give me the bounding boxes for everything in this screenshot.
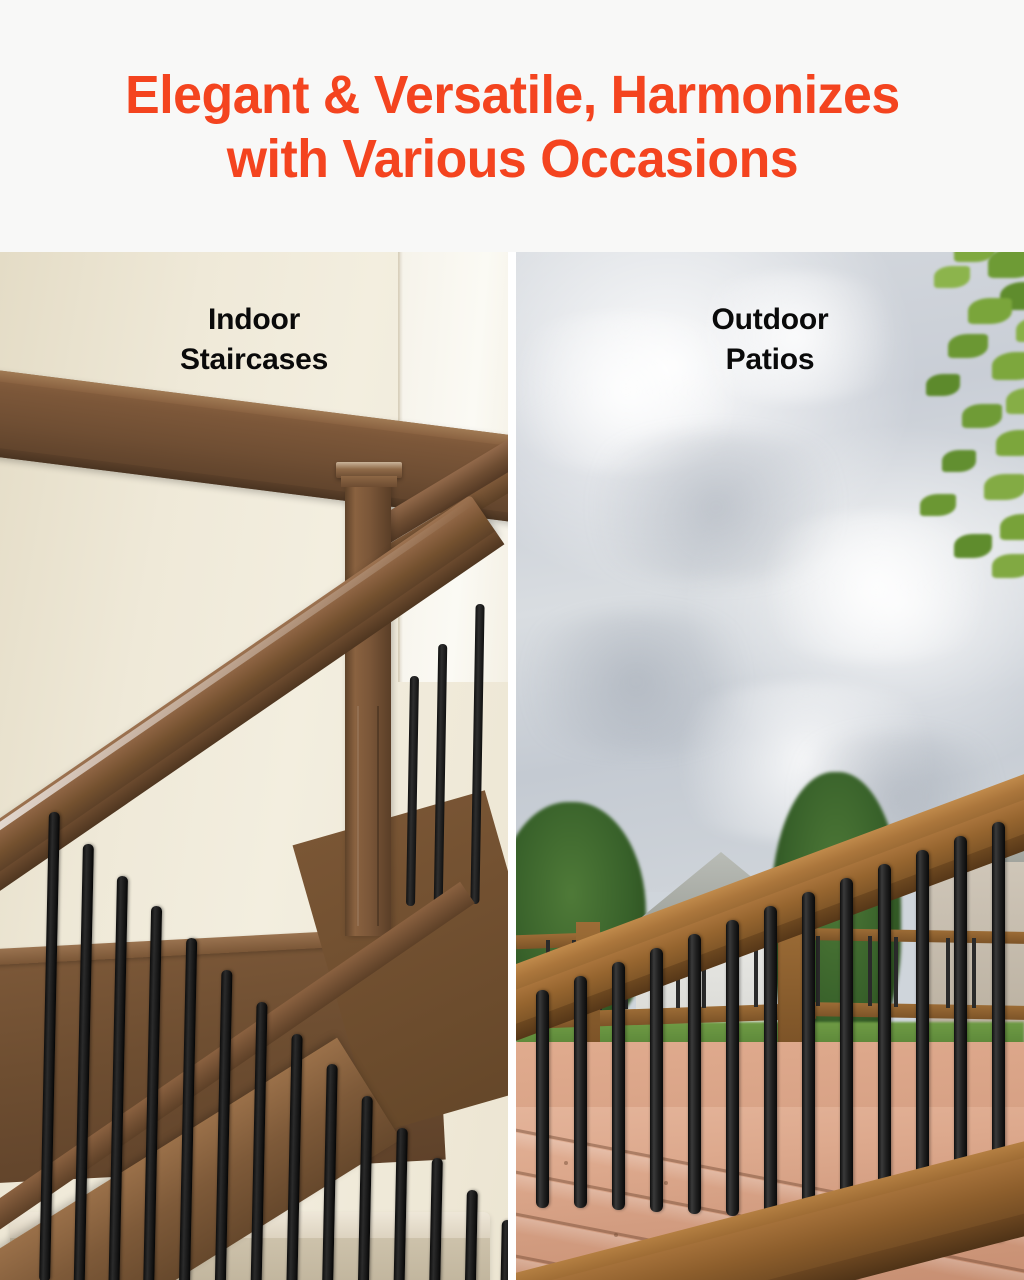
marketing-banner: Elegant & Versatile, Harmonizes with Var… [0,0,1024,1280]
baluster [612,962,625,1210]
indoor-staircase-photo [0,252,508,1280]
panel-outdoor-patios: Outdoor Patios [516,252,1024,1280]
newel-post-cap-lower [341,476,397,487]
outdoor-patio-photo [516,252,1024,1280]
baluster [688,934,701,1214]
panel-divider [508,252,516,1280]
baluster [536,990,549,1208]
page-headline: Elegant & Versatile, Harmonizes with Var… [125,64,900,191]
headline-line-2: with Various Occasions [125,128,900,192]
baluster [726,920,739,1216]
headline-line-1: Elegant & Versatile, Harmonizes [125,64,900,128]
header-band: Elegant & Versatile, Harmonizes with Var… [0,0,1024,252]
newel-post [345,476,391,936]
baluster [764,906,777,1218]
baluster [840,878,853,1226]
baluster [802,892,815,1222]
baluster [650,948,663,1212]
baluster [574,976,587,1208]
panel-indoor-staircases: Indoor Staircases [0,252,508,1280]
tree-foliage [896,252,1024,592]
